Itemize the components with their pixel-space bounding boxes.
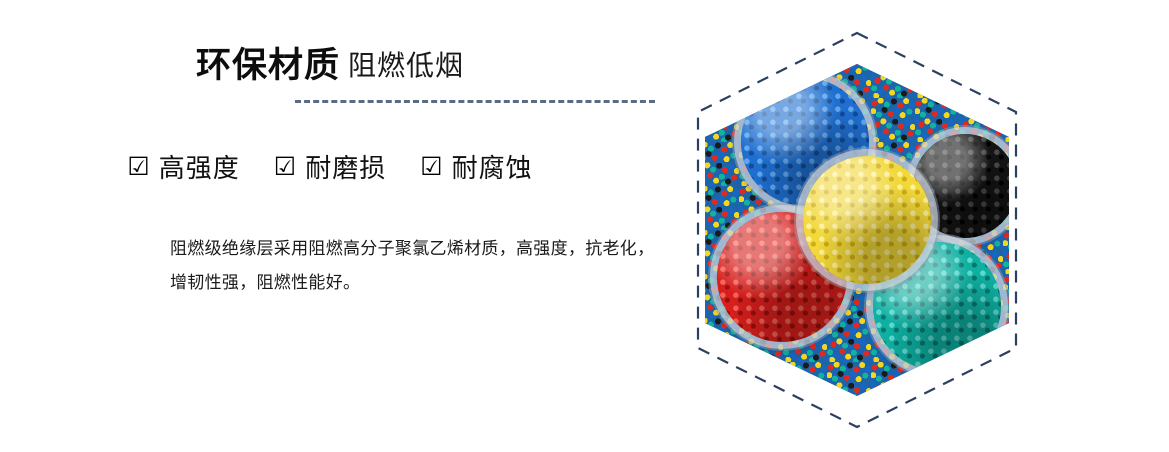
checked-box-icon: ☑ (274, 155, 296, 180)
checked-box-icon: ☑ (127, 155, 149, 180)
description-text: 阻燃级绝缘层采用阻燃高分子聚氯乙烯材质，高强度，抗老化，增韧性强，阻燃性能好。 (170, 232, 670, 300)
headline-sub: 阻燃低烟 (348, 50, 464, 81)
yellow-pellets-bowl (803, 156, 931, 284)
feature-list: ☑ 高强度 ☑ 耐磨损 ☑ 耐腐蚀 (0, 148, 660, 185)
feature-item-corrosion-resistance: ☑ 耐腐蚀 (420, 148, 532, 185)
feature-label: 耐磨损 (305, 148, 386, 185)
hexagon-media-frame (697, 32, 1017, 428)
feature-label: 高强度 (159, 148, 240, 185)
text-panel: 环保材质阻燃低烟 ☑ 高强度 ☑ 耐磨损 ☑ 耐腐蚀 阻燃级绝缘层采用阻燃高分子… (0, 0, 690, 452)
feature-item-strength: ☑ 高强度 (127, 148, 239, 185)
headline-emphasis: 环保材质 (196, 46, 340, 85)
checked-box-icon: ☑ (420, 155, 442, 180)
title-divider (295, 100, 655, 103)
yellow-pellets (803, 156, 931, 284)
feature-item-wear-resistance: ☑ 耐磨损 (274, 148, 386, 185)
page-title: 环保材质阻燃低烟 (0, 48, 660, 83)
feature-label: 耐腐蚀 (452, 148, 533, 185)
